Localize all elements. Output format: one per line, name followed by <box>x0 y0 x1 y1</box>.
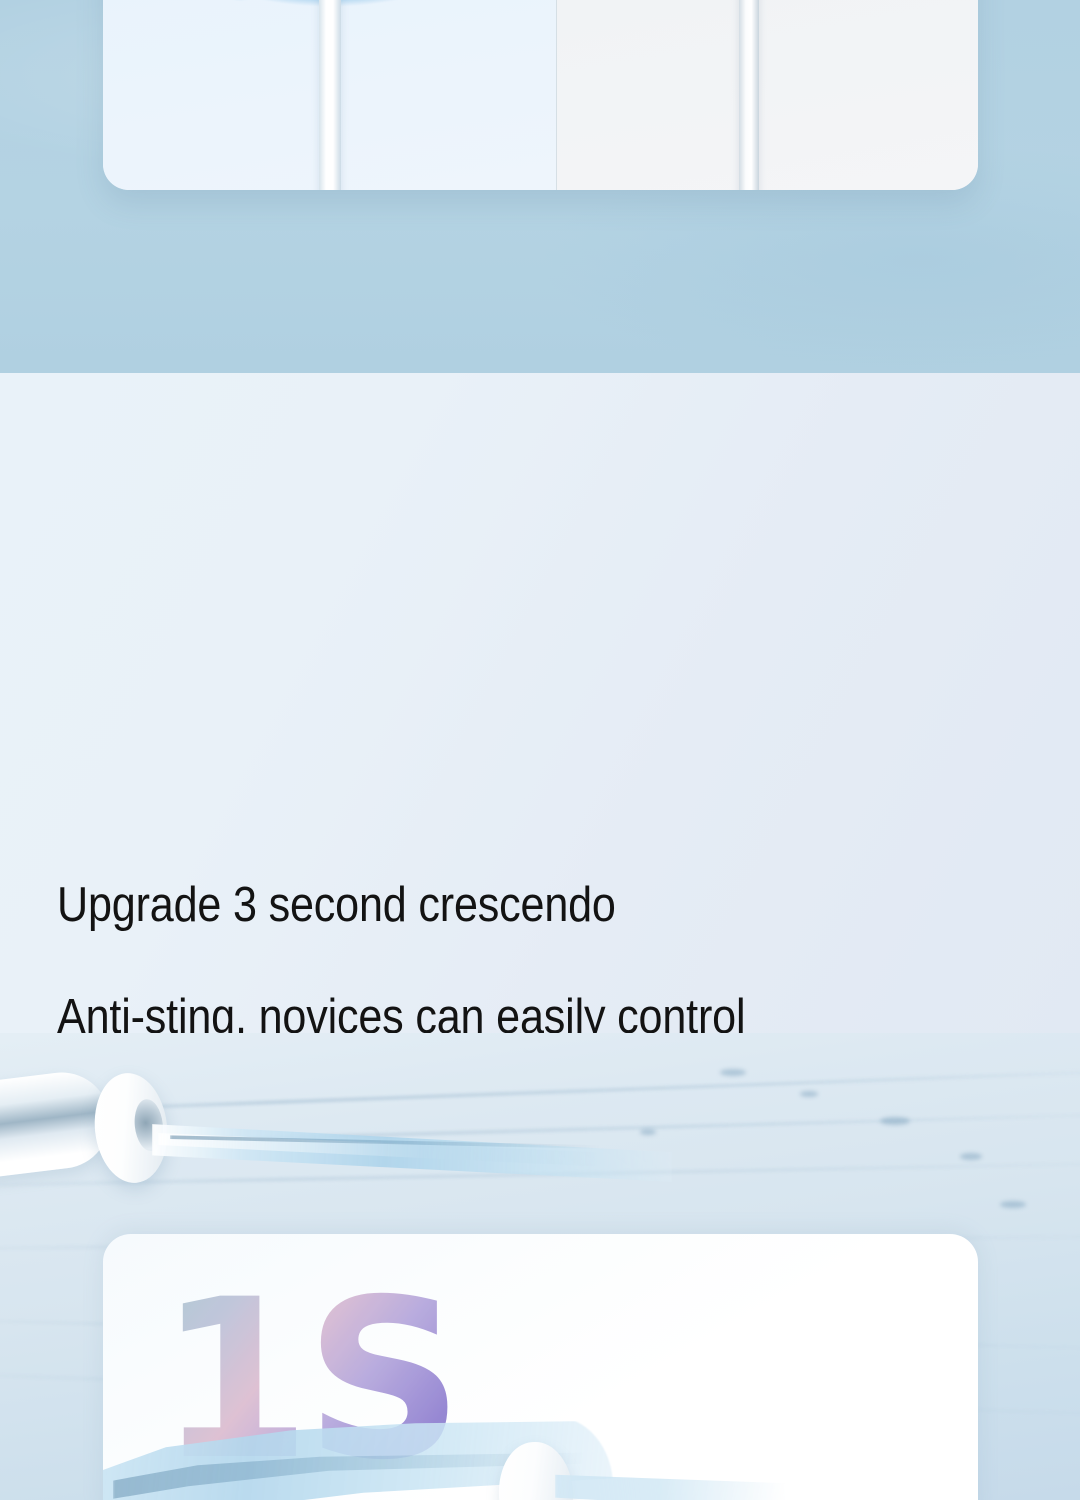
top-hero-section <box>0 0 1080 373</box>
water-sparkle <box>1000 1201 1026 1208</box>
water-sparkle <box>640 1129 656 1135</box>
feature-headline-primary: Upgrade 3 second crescendo <box>57 877 616 933</box>
comparison-panel-right <box>556 0 978 190</box>
water-sparkle <box>800 1091 818 1097</box>
feature-text-section: Upgrade 3 second crescendo Anti-sting, n… <box>0 373 1080 1033</box>
water-sparkle <box>880 1117 910 1125</box>
nozzle-icon-left <box>319 0 341 190</box>
comparison-panel-left <box>103 0 556 190</box>
water-sparkle <box>960 1153 982 1160</box>
panel-divider <box>556 0 557 190</box>
water-sparkle <box>720 1069 746 1076</box>
product-feature-page: Upgrade 3 second crescendo Anti-sting, n… <box>0 0 1080 1500</box>
comparison-card <box>103 0 978 190</box>
one-second-card: 1S <box>103 1234 978 1500</box>
nozzle-icon-right <box>739 0 759 190</box>
